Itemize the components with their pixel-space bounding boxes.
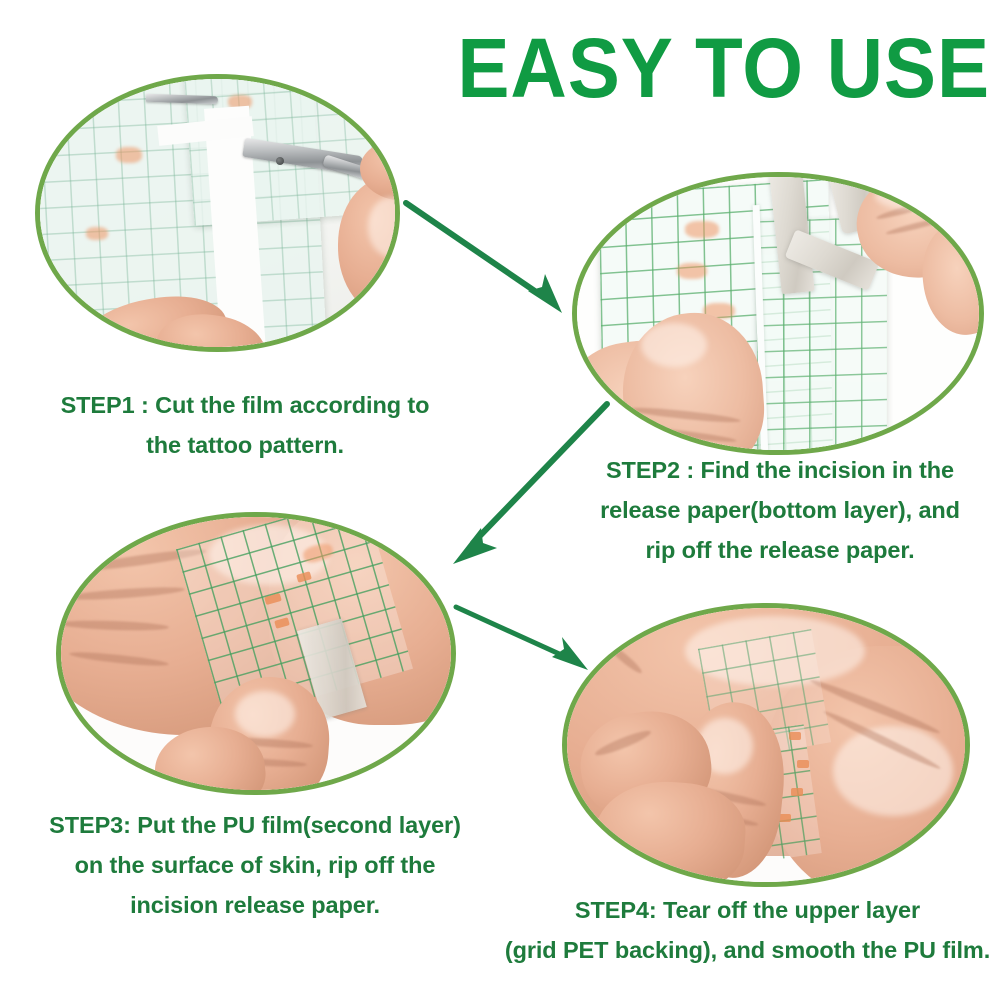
step2-caption-line-2: release paper(bottom layer), and xyxy=(560,490,1000,530)
step2-photo xyxy=(575,175,981,452)
step2-caption-line-3: rip off the release paper. xyxy=(560,530,1000,570)
step3-caption: STEP3: Put the PU film(second layer) on … xyxy=(10,805,500,925)
step4-caption: STEP4: Tear off the upper layer (grid PE… xyxy=(495,890,1000,970)
step4-photo xyxy=(565,606,967,884)
step1-caption-line-2: the tattoo pattern. xyxy=(20,425,470,465)
step2-caption-line-1: STEP2 : Find the incision in the xyxy=(560,450,1000,490)
step1-photo xyxy=(38,77,397,349)
step2-image-oval xyxy=(572,172,984,455)
step4-image-oval xyxy=(562,603,970,887)
step3-image-oval xyxy=(56,512,456,795)
infographic-canvas: EASY TO USE xyxy=(0,0,1000,1001)
page-title: EASY TO USE xyxy=(423,22,990,114)
step1-caption: STEP1 : Cut the film according to the ta… xyxy=(20,385,470,465)
step3-caption-line-3: incision release paper. xyxy=(10,885,500,925)
step1-caption-line-1: STEP1 : Cut the film according to xyxy=(20,385,470,425)
step1-image-oval xyxy=(35,74,400,352)
step4-caption-line-1: STEP4: Tear off the upper layer xyxy=(495,890,1000,930)
arrow-step1-to-step2 xyxy=(400,195,580,325)
step3-caption-line-1: STEP3: Put the PU film(second layer) xyxy=(10,805,500,845)
step3-caption-line-2: on the surface of skin, rip off the xyxy=(10,845,500,885)
step3-photo xyxy=(59,515,453,792)
step2-caption: STEP2 : Find the incision in the release… xyxy=(560,450,1000,570)
step4-caption-line-2: (grid PET backing), and smooth the PU fi… xyxy=(495,930,1000,970)
scissors-rivet xyxy=(276,157,284,165)
